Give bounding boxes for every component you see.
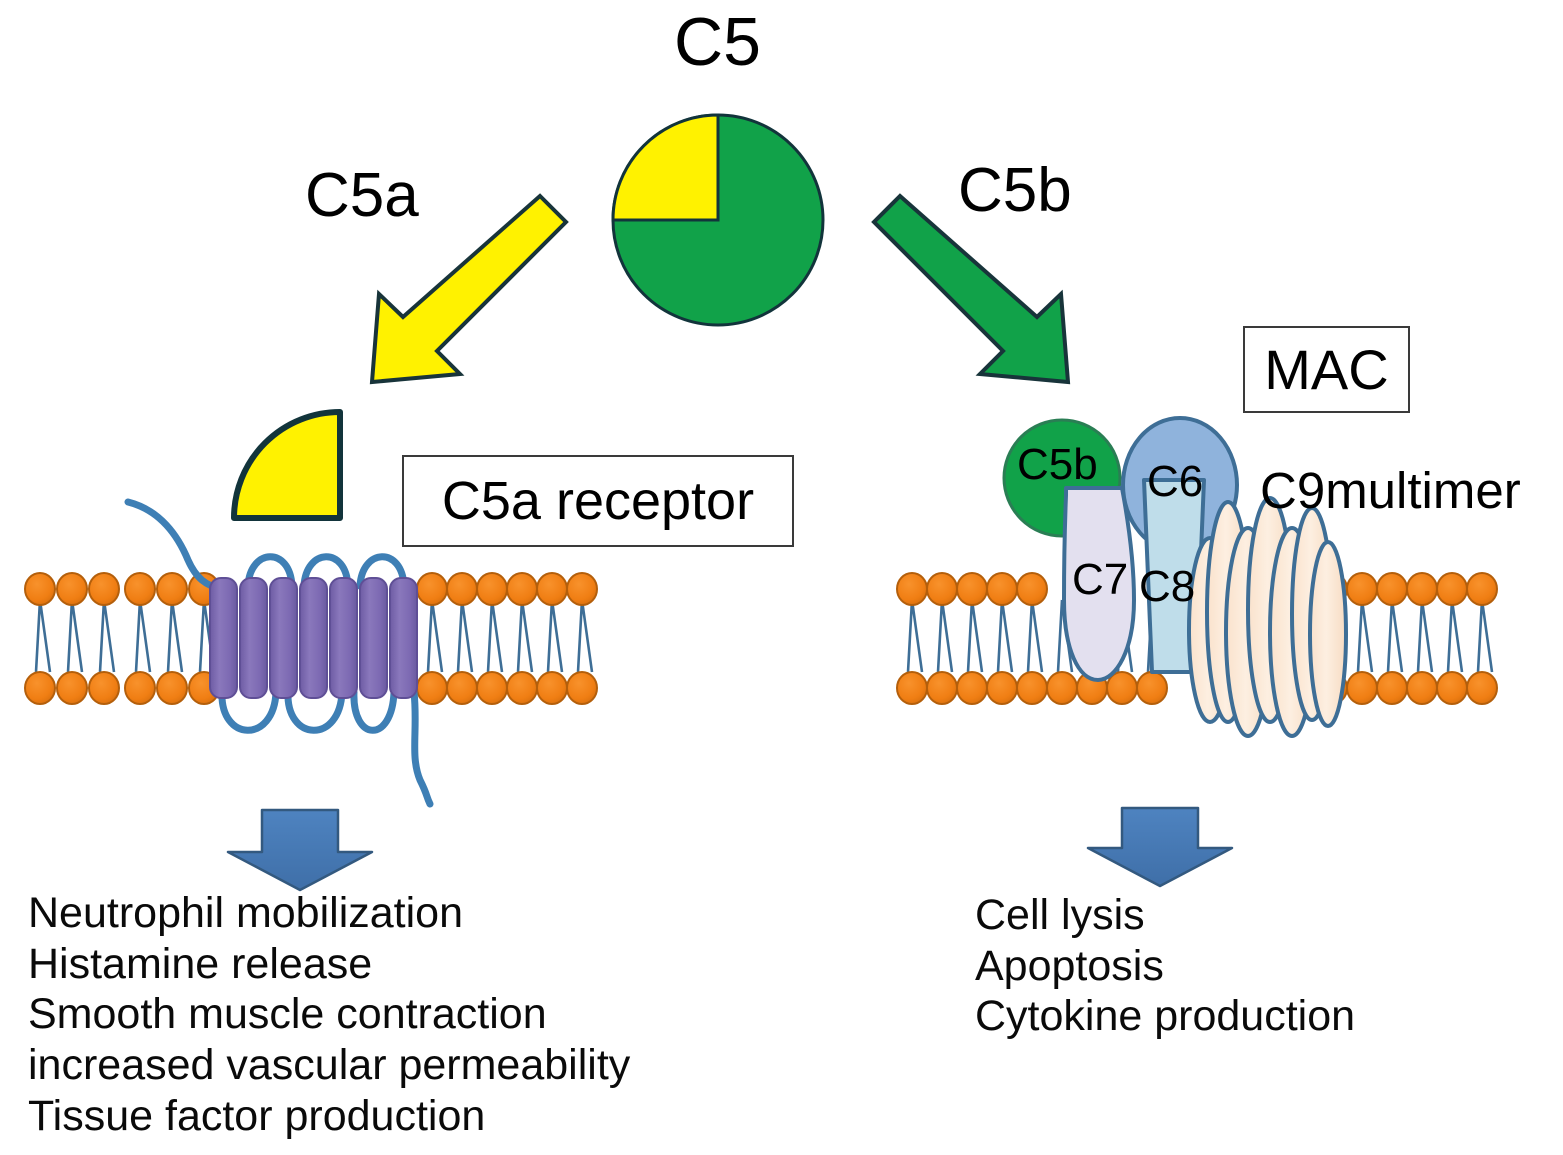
- left-outcomes-list: Neutrophil mobilizationHistamine release…: [28, 888, 630, 1142]
- mac-c8-label: C8: [1139, 565, 1195, 609]
- c5a-label: C5a: [305, 165, 419, 227]
- c5a-receptor-label-box: C5a receptor: [402, 455, 794, 547]
- outcome-line: Tissue factor production: [28, 1091, 630, 1142]
- right-outcomes-list: Cell lysisApoptosisCytokine production: [975, 890, 1355, 1042]
- c5a-receptor-label: C5a receptor: [442, 470, 754, 532]
- outcome-line: Neutrophil mobilization: [28, 888, 630, 939]
- c9-multimer-label: C9multimer: [1260, 465, 1521, 516]
- outcome-line: Histamine release: [28, 939, 630, 990]
- outcome-line: increased vascular permeability: [28, 1040, 630, 1091]
- mac-label: MAC: [1264, 337, 1388, 402]
- c5a-receptor-7tm: [128, 502, 430, 804]
- right-outcome-arrow: [1088, 808, 1232, 886]
- outcome-line: Cell lysis: [975, 890, 1355, 941]
- c5a-fragment-wedge: [234, 412, 340, 518]
- mac-label-box: MAC: [1243, 326, 1410, 413]
- mac-c6-label: C6: [1147, 460, 1203, 504]
- c5-pie-chart: [613, 115, 823, 325]
- outcome-line: Smooth muscle contraction: [28, 989, 630, 1040]
- left-outcome-arrow: [228, 810, 372, 890]
- complement-c5-pathway-diagram: C5 C5a C5b C5a receptor MAC C5b C6 C7 C8…: [0, 0, 1563, 1155]
- outcome-line: Apoptosis: [975, 941, 1355, 992]
- c5b-label: C5b: [958, 160, 1072, 222]
- outcome-line: Cytokine production: [975, 991, 1355, 1042]
- mac-c5b-label: C5b: [1017, 443, 1098, 487]
- c5-title: C5: [674, 8, 761, 76]
- mac-c7-label: C7: [1072, 558, 1128, 602]
- c9-multimer-shape: [1189, 498, 1346, 736]
